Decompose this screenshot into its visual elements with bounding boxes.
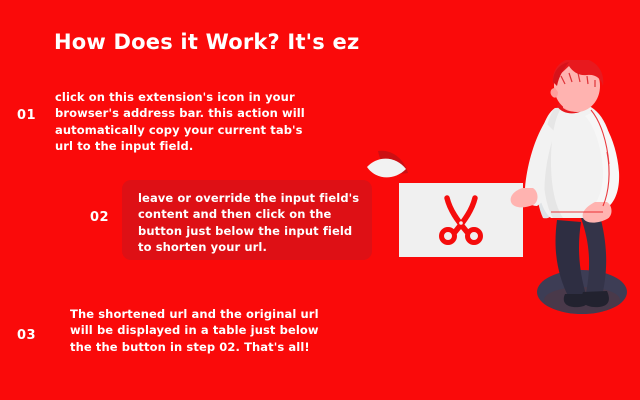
- step-02-number: 02: [90, 210, 109, 225]
- step-03-text: The shortened url and the original url w…: [70, 306, 320, 355]
- page-title: How Does it Work? It's ez: [54, 30, 454, 55]
- slide-canvas: How Does it Work? It's ez 01 click on th…: [0, 0, 640, 400]
- step-01-number: 01: [17, 108, 36, 123]
- person-leaning-illustration: [495, 60, 640, 360]
- step-01-text: click on this extension's icon in your b…: [55, 89, 317, 154]
- step-02-text: leave or override the input field's cont…: [138, 190, 360, 255]
- step-03-number: 03: [17, 328, 36, 343]
- scissors-icon: [435, 194, 487, 246]
